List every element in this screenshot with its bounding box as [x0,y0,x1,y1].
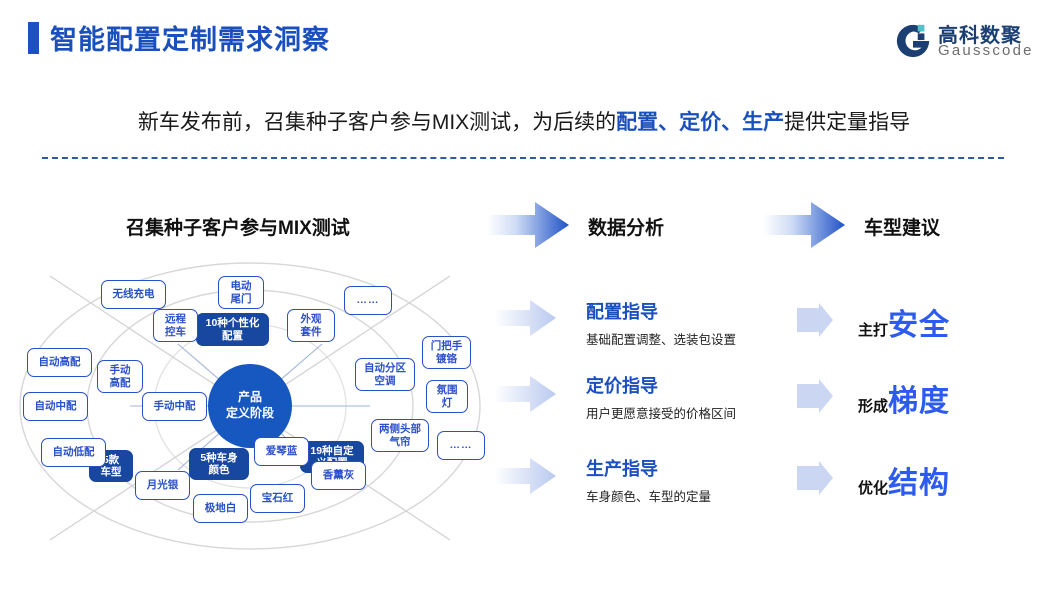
mindmap-node[interactable]: 自动中配 [23,392,88,421]
recommendation-prefix: 优化 [858,480,888,497]
recommendation-row: 优化结构 [858,458,950,502]
mindmap-center-node[interactable]: 产品 定义阶段 [208,364,292,448]
analysis-description: 基础配置调整、选装包设置 [586,329,816,348]
mindmap-node[interactable]: 远程 控车 [153,309,198,342]
recommendation-prefix: 形成 [858,398,888,415]
analysis-row: 生产指导 车身颜色、车型的定量 [586,455,816,505]
mindmap-node[interactable]: 自动低配 [41,438,106,467]
logo-name-en: Gausscode [938,42,1034,59]
mindmap-diagram: 10种个性化 配置 5款 车型 19种自定 义配置 5种车身 颜色 产品 定义阶… [10,258,510,558]
mindmap-node[interactable]: …… [437,431,485,460]
analysis-title: 生产指导 [586,455,816,481]
mindmap-group-node[interactable]: 5种车身 颜色 [189,448,249,480]
mindmap-node[interactable]: 无线充电 [101,280,166,309]
mindmap-node[interactable]: …… [344,286,392,315]
recommendation-keyword: 梯度 [888,385,950,418]
analysis-description: 用户更愿意接受的价格区间 [586,403,816,422]
result-arrow-icon [797,379,833,413]
analysis-description: 车身颜色、车型的定量 [586,486,816,505]
column-header-data-analysis: 数据分析 [588,213,664,240]
mindmap-node[interactable]: 宝石红 [250,484,305,513]
subtitle-part-2: 提供定量指导 [784,111,910,134]
subtitle-part-1: 新车发布前，召集种子客户参与MIX测试，为后续的 [138,111,616,134]
logo-g-icon [894,22,932,60]
section-divider [42,157,1004,159]
mindmap-node[interactable]: 自动分区 空调 [355,358,415,391]
slide-root: 智能配置定制需求洞察 高科数聚 Gausscode 新车发布前，召集种子客户参与… [0,0,1048,589]
mindmap-node[interactable]: 月光银 [135,471,190,500]
mindmap-node[interactable]: 爱琴蓝 [254,437,309,466]
mindmap-node[interactable]: 极地白 [193,494,248,523]
analysis-title: 配置指导 [586,298,816,324]
result-arrow-icon [797,303,833,337]
column-header-recommendation: 车型建议 [864,213,940,240]
analysis-title: 定价指导 [586,372,816,398]
brand-logo: 高科数聚 Gausscode [890,18,1030,64]
slide-header: 智能配置定制需求洞察 高科数聚 Gausscode [0,0,1048,78]
recommendation-keyword: 结构 [888,467,950,500]
mindmap-node[interactable]: 香薰灰 [311,461,366,490]
result-arrow-icon [797,461,833,495]
mindmap-node[interactable]: 两侧头部 气帘 [371,419,429,452]
recommendation-prefix: 主打 [858,322,888,339]
title-accent-bar [28,22,39,54]
recommendation-keyword: 安全 [888,309,950,342]
recommendation-row: 形成梯度 [858,376,950,420]
flow-arrow-icon [763,202,845,248]
mindmap-group-node[interactable]: 10种个性化 配置 [196,313,269,346]
mindmap-node[interactable]: 手动中配 [142,392,207,421]
mindmap-node[interactable]: 氛围 灯 [426,380,468,413]
mindmap-node[interactable]: 电动 尾门 [218,276,264,309]
page-title: 智能配置定制需求洞察 [50,18,330,57]
analysis-row: 配置指导 基础配置调整、选装包设置 [586,298,816,348]
mindmap-node[interactable]: 外观 套件 [287,309,335,342]
flow-arrow-icon [487,202,569,248]
mindmap-node[interactable]: 手动 高配 [97,360,143,393]
analysis-row: 定价指导 用户更愿意接受的价格区间 [586,372,816,422]
slide-subtitle: 新车发布前，召集种子客户参与MIX测试，为后续的配置、定价、生产提供定量指导 [0,106,1048,136]
recommendation-row: 主打安全 [858,300,950,344]
mindmap-node[interactable]: 门把手 镀铬 [422,336,471,369]
column-header-mix: 召集种子客户参与MIX测试 [126,213,350,240]
mindmap-node[interactable]: 自动高配 [27,348,92,377]
subtitle-highlight: 配置、定价、生产 [616,111,784,134]
